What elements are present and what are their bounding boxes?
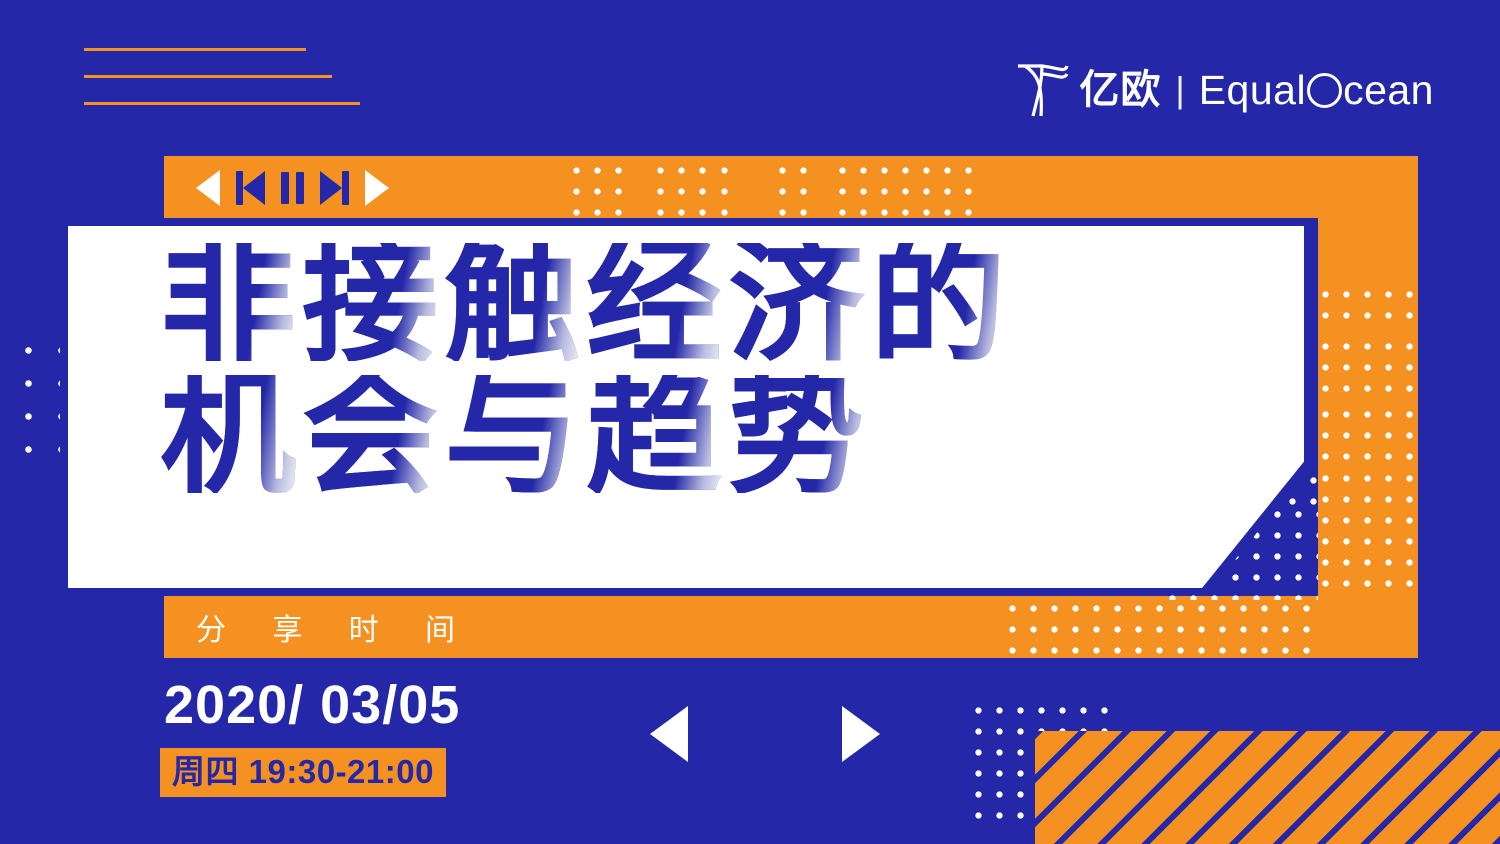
- share-time-band: 分 享 时 间: [164, 596, 474, 658]
- share-time-label: 分 享 时 间: [196, 605, 474, 649]
- frame-right-dots-b: [1318, 336, 1418, 398]
- frame-top-dots-c: [712, 156, 730, 218]
- title-char: 非: [160, 243, 302, 361]
- logo-en-pre: Equal: [1199, 70, 1306, 111]
- previous-triangle: [243, 171, 265, 205]
- bottom-nav-arrows[interactable]: [650, 706, 880, 762]
- forward-icon[interactable]: [365, 170, 389, 206]
- logo-en-post: cean: [1343, 70, 1434, 111]
- frame-top-dots-d: [770, 156, 816, 218]
- title-char: 势: [728, 375, 870, 493]
- title-line-2: 机会与趋势: [160, 375, 1160, 493]
- title-char: 接: [302, 243, 444, 361]
- title-char: 与: [444, 375, 586, 493]
- pause-bar-left: [281, 172, 289, 204]
- title-char: 会: [302, 375, 444, 493]
- frame-top-dots-b: [648, 156, 708, 218]
- page-title: 非接触经济的 机会与趋势: [160, 243, 1160, 493]
- prev-arrow-icon[interactable]: [650, 706, 688, 762]
- logo-chinese-name: 亿欧: [1079, 70, 1161, 110]
- pause-icon[interactable]: [281, 172, 304, 204]
- decor-diagonal-hatch: [1035, 731, 1500, 844]
- decor-line-1: [84, 48, 306, 51]
- decor-line-3: [84, 102, 360, 105]
- title-char: 济: [728, 243, 870, 361]
- next-icon[interactable]: [320, 171, 349, 205]
- pause-bar-right: [296, 172, 304, 204]
- decor-top-left-lines: [84, 48, 360, 129]
- next-bar: [342, 171, 349, 205]
- event-time-badge: 周四 19:30-21:00: [160, 748, 446, 797]
- title-line-1: 非接触经济的: [160, 243, 1160, 361]
- rewind-icon[interactable]: [196, 170, 220, 206]
- event-date: 2020/ 03/05: [164, 678, 460, 732]
- frame-bottom-dots-a: [1000, 596, 1318, 658]
- brand-logo: 亿欧 | Equalcean: [1015, 62, 1434, 118]
- frame-top-dots-e: [830, 156, 984, 218]
- previous-bar: [236, 171, 243, 205]
- title-char: 触: [444, 243, 586, 361]
- logo-english-name: Equalcean: [1199, 70, 1434, 111]
- logo-o-ring-icon: [1307, 73, 1342, 108]
- poster-canvas: 亿欧 | Equalcean: [0, 0, 1500, 844]
- frame-top-dots-a: [564, 156, 624, 218]
- title-char: 的: [870, 243, 1012, 361]
- title-char: 经: [586, 243, 728, 361]
- frame-right-dots-c: [1318, 404, 1418, 466]
- title-char: 趋: [586, 375, 728, 493]
- title-char: 机: [160, 375, 302, 493]
- logo-divider: |: [1175, 72, 1184, 108]
- next-arrow-icon[interactable]: [842, 706, 880, 762]
- decor-left-dot-grid: [10, 332, 60, 472]
- next-triangle: [320, 171, 342, 205]
- frame-right-dots-a: [1318, 284, 1418, 326]
- media-controls[interactable]: [196, 170, 389, 206]
- previous-icon[interactable]: [236, 171, 265, 205]
- decor-line-2: [84, 75, 332, 78]
- equalocean-tree-icon: [1015, 62, 1073, 118]
